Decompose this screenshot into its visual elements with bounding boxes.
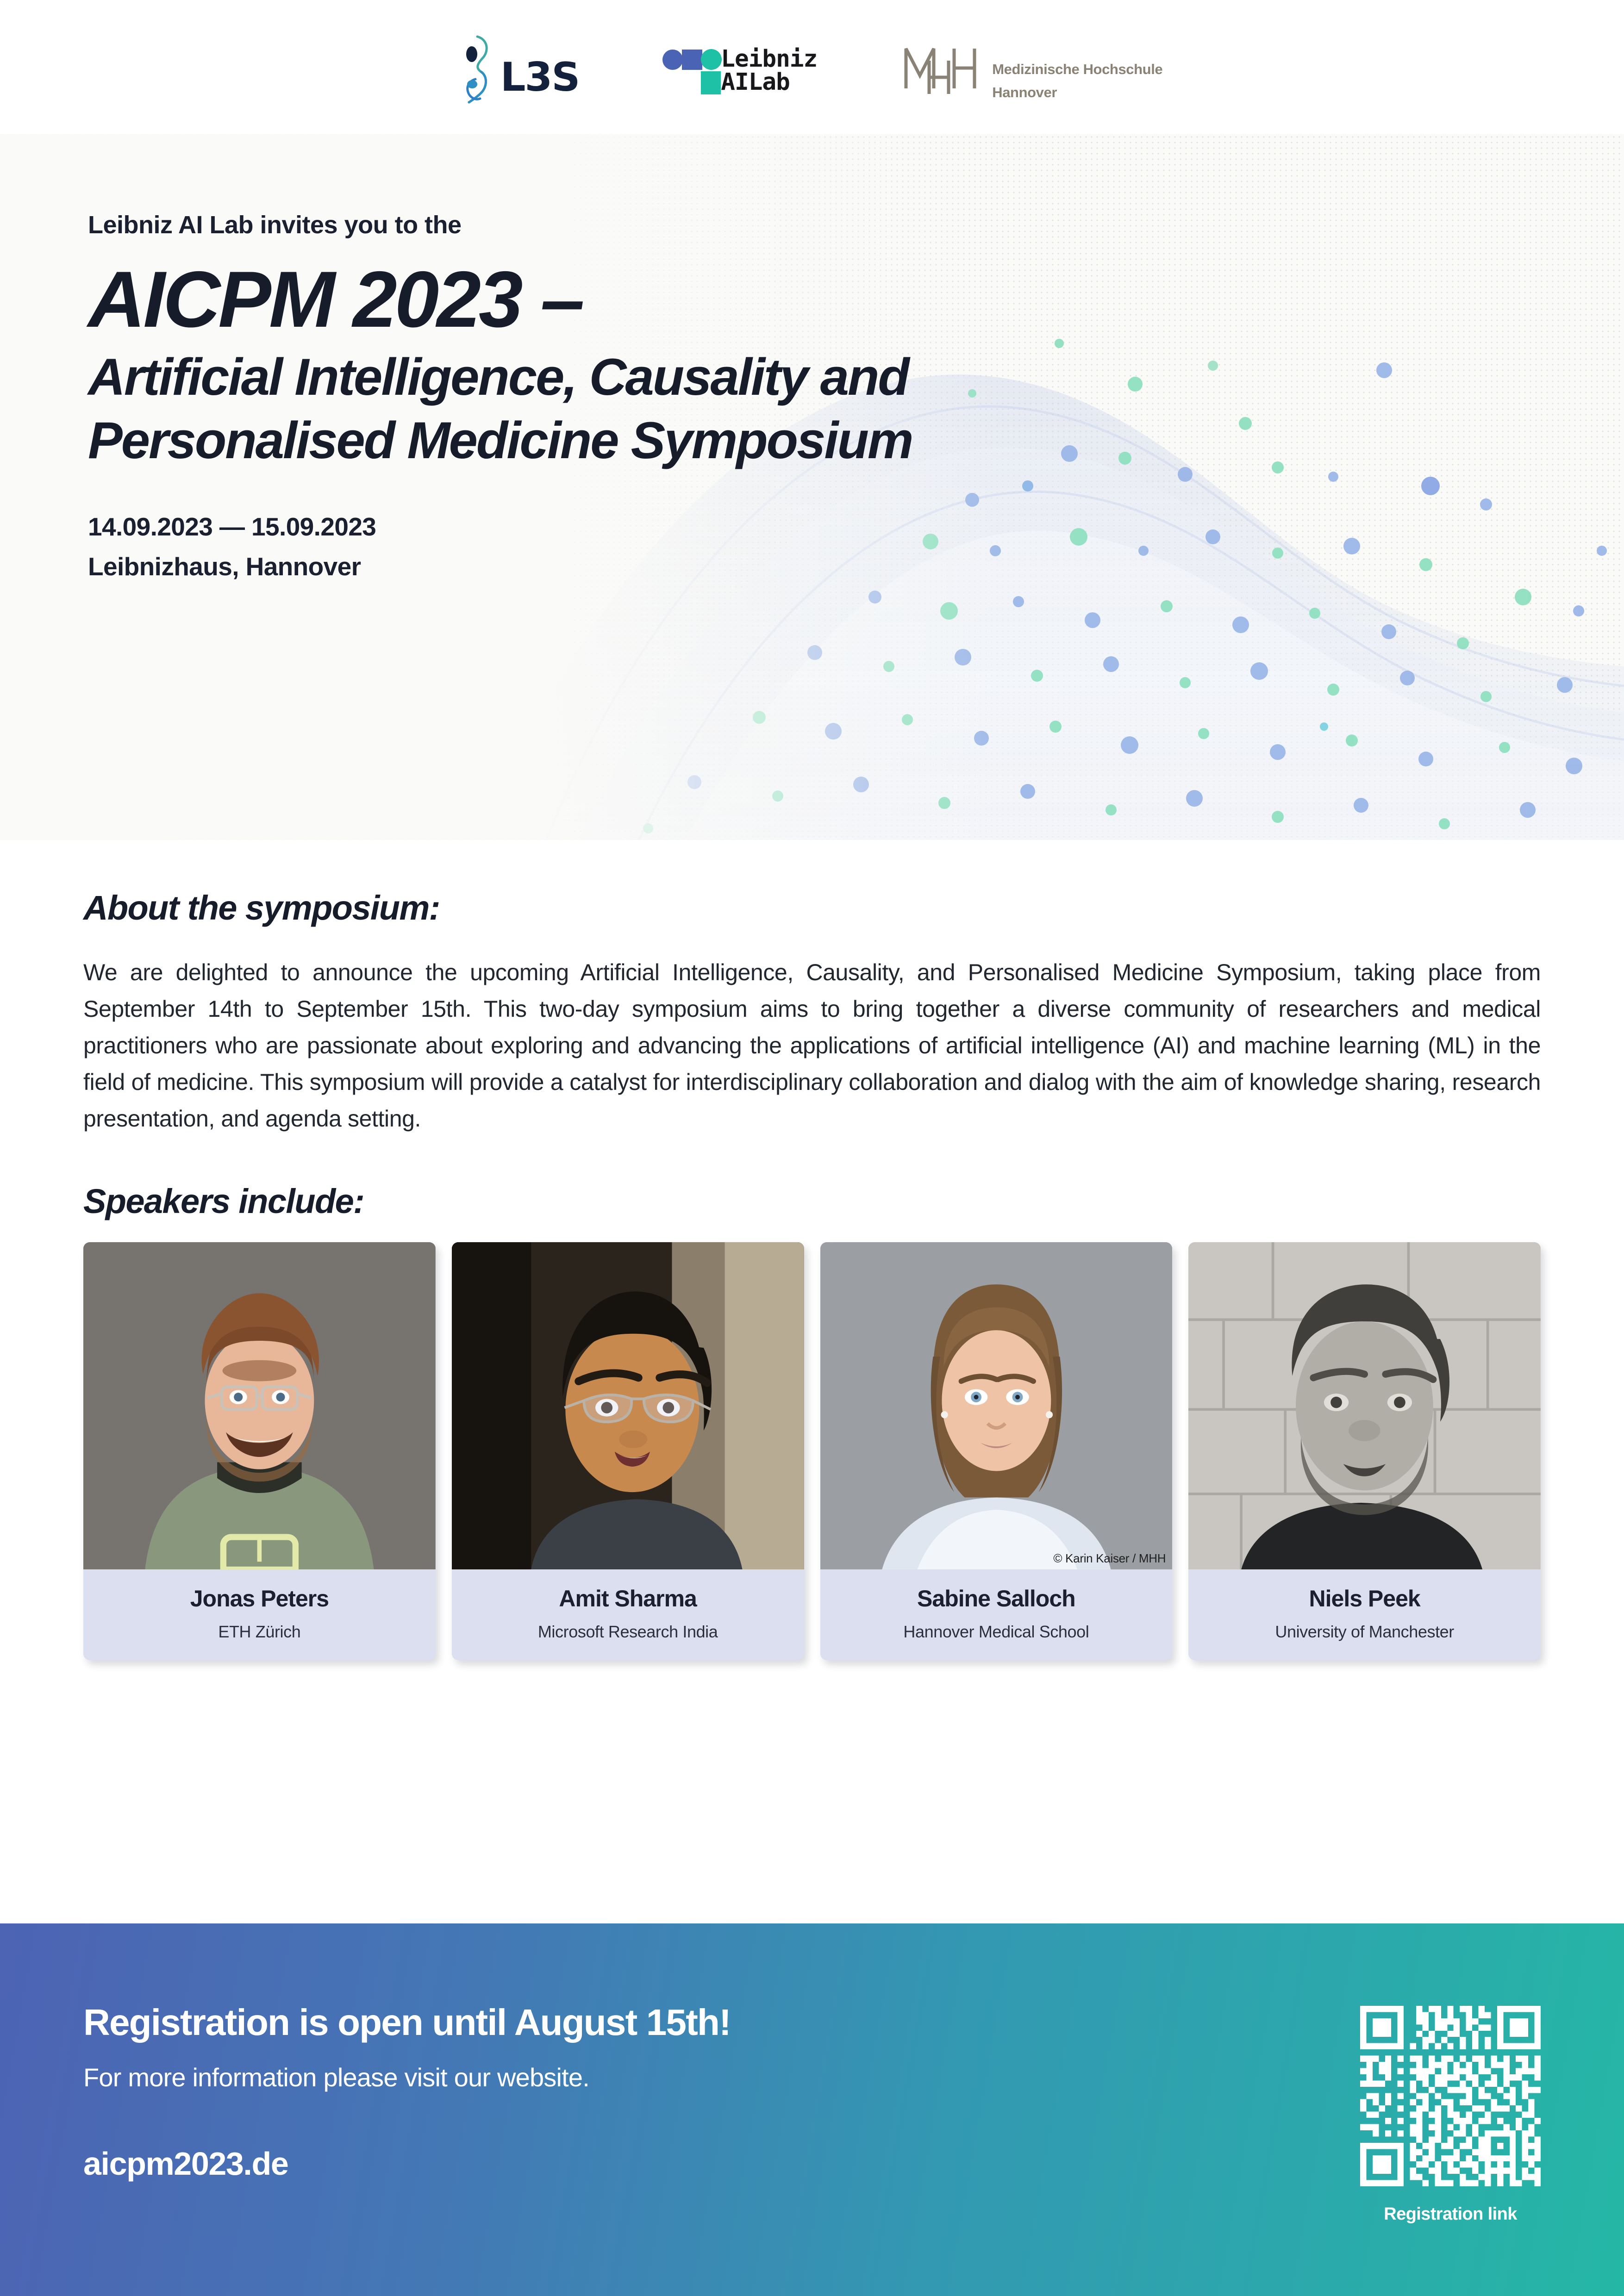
l3s-logo: L3S	[462, 35, 580, 104]
speaker-plate: Amit Sharma Microsoft Research India	[452, 1569, 804, 1660]
blue-circle-icon	[662, 50, 683, 70]
speaker-affiliation: ETH Zürich	[88, 1622, 431, 1642]
page-subtitle-line-2: Personalised Medicine Symposium	[88, 409, 1624, 473]
speaker-card-jonas-peters[interactable]: Jonas Peters ETH Zürich	[83, 1242, 436, 1660]
ailab-line-2: AILab	[721, 71, 817, 94]
blue-square-icon	[682, 50, 702, 70]
registration-headline: Registration is open until August 15th!	[83, 2003, 731, 2042]
speaker-photo-niels-peek	[1188, 1242, 1541, 1569]
event-venue: Leibnizhaus, Hannover	[88, 547, 1624, 586]
ailab-line-1: Leibniz	[721, 48, 817, 71]
hero-banner: Leibniz AI Lab invites you to the AICPM …	[0, 134, 1624, 840]
event-dates: 14.09.2023 — 15.09.2023	[88, 507, 1624, 547]
website-url[interactable]: aicpm2023.de	[83, 2145, 731, 2182]
photo-credit: © Karin Kaiser / MHH	[1053, 1551, 1166, 1566]
speaker-plate: Jonas Peters ETH Zürich	[83, 1569, 436, 1660]
mhh-line-2: Hannover	[992, 81, 1162, 104]
mhh-monogram-icon	[900, 42, 984, 97]
leibniz-ailab-logo: Leibniz AILab	[662, 41, 817, 98]
registration-banner: Registration is open until August 15th! …	[0, 1923, 1624, 2296]
ailab-wordmark: Leibniz AILab	[721, 48, 817, 94]
speaker-name: Sabine Salloch	[825, 1585, 1168, 1612]
partner-logo-bar: L3S Leibniz AILab Medizinische Hochschul	[0, 0, 1624, 134]
mhh-logo: Medizinische Hochschule Hannover	[900, 35, 1162, 104]
hero-kicker: Leibniz AI Lab invites you to the	[88, 211, 1624, 239]
speaker-affiliation: University of Manchester	[1193, 1622, 1536, 1642]
teal-circle-icon	[701, 49, 722, 70]
event-meta: 14.09.2023 — 15.09.2023 Leibnizhaus, Han…	[88, 507, 1624, 586]
ailab-shapes-icon	[662, 48, 718, 98]
main-content: About the symposium: We are delighted to…	[0, 840, 1624, 1660]
speaker-name: Jonas Peters	[88, 1585, 431, 1612]
speaker-photo-amit-sharma	[452, 1242, 804, 1569]
teal-square-icon	[701, 71, 721, 94]
page-subtitle-line-1: Artificial Intelligence, Causality and	[88, 346, 1624, 409]
speaker-plate: Sabine Salloch Hannover Medical School	[820, 1569, 1173, 1660]
speaker-card-amit-sharma[interactable]: Amit Sharma Microsoft Research India	[452, 1242, 804, 1660]
speaker-name: Niels Peek	[1193, 1585, 1536, 1612]
speaker-photo-sabine-salloch: © Karin Kaiser / MHH	[820, 1242, 1173, 1569]
speaker-card-niels-peek[interactable]: Niels Peek University of Manchester	[1188, 1242, 1541, 1660]
l3s-mark-icon	[462, 35, 498, 104]
about-heading: About the symposium:	[83, 888, 1541, 927]
mhh-wordmark: Medizinische Hochschule Hannover	[992, 58, 1162, 104]
speaker-affiliation: Hannover Medical School	[825, 1622, 1168, 1642]
speaker-card-sabine-salloch[interactable]: © Karin Kaiser / MHH Sabine Salloch Hann…	[820, 1242, 1173, 1660]
speaker-affiliation: Microsoft Research India	[456, 1622, 800, 1642]
speaker-plate: Niels Peek University of Manchester	[1188, 1569, 1541, 1660]
speaker-photo-jonas-peters	[83, 1242, 436, 1569]
about-paragraph: We are delighted to announce the upcomin…	[83, 954, 1541, 1137]
page-title: AICPM 2023 –	[88, 260, 1624, 339]
qr-caption: Registration link	[1360, 2204, 1541, 2224]
qr-block: Registration link	[1360, 2003, 1541, 2224]
speaker-grid: Jonas Peters ETH Zürich	[83, 1242, 1541, 1660]
l3s-wordmark: L3S	[500, 57, 580, 97]
registration-subline: For more information please visit our we…	[83, 2062, 731, 2092]
registration-text-block: Registration is open until August 15th! …	[83, 2003, 731, 2182]
qr-code-icon[interactable]	[1360, 2006, 1541, 2186]
mhh-line-1: Medizinische Hochschule	[992, 58, 1162, 81]
speakers-heading: Speakers include:	[83, 1182, 1541, 1221]
speaker-name: Amit Sharma	[456, 1585, 800, 1612]
